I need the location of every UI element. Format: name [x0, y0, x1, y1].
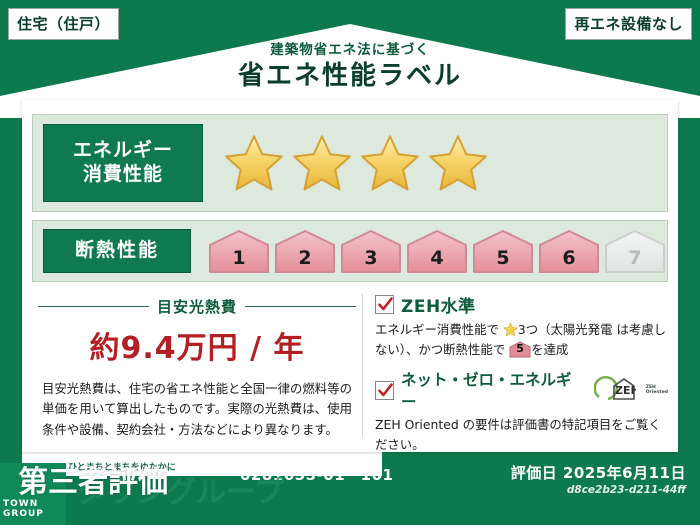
house-icon-inline: 5 [509, 341, 531, 358]
insulation-level-number: 6 [537, 247, 601, 269]
svg-text:ZEH: ZEH [615, 384, 636, 397]
zeh-panel: ZEH水準 エネルギー消費性能で 3つ（太陽光発電 は考慮しない）、かつ断熱性能… [369, 290, 668, 442]
label-title-block: 建築物省エネ法に基づく 省エネ性能ラベル [0, 42, 700, 93]
net-zero-heading: ネット・ゼロ・エネルギー ZEH ZEH Oriented [375, 368, 668, 412]
label-subtitle: 建築物省エネ法に基づく [0, 42, 700, 58]
insulation-level-house: 4 [405, 228, 469, 274]
zeh-body-stars: 3つ（太陽光発電 [518, 322, 613, 337]
rule-left [38, 306, 149, 307]
evaluation-date: 評価日 2025年6月11日 [511, 462, 686, 483]
energy-performance-label-box: エネルギー 消費性能 [43, 124, 203, 202]
insulation-level-house: 2 [273, 228, 337, 274]
rule-right [245, 306, 356, 307]
utility-cost-title: 目安光熱費 [157, 296, 237, 317]
zeh-body-pre: エネルギー消費性能で [375, 322, 499, 337]
insulation-level-house: 3 [339, 228, 403, 274]
zeh-standard-body: エネルギー消費性能で 3つ（太陽光発電 は考慮しない）、かつ断熱性能で 5 を達… [375, 320, 668, 360]
vertical-divider [362, 294, 363, 438]
utility-cost-value: 約9.4万円 / 年 [38, 323, 356, 367]
star-icon-inline [503, 322, 518, 337]
page-title: 省エネ性能ラベル [0, 60, 700, 93]
zeh-logo-note-l2: Oriented [646, 390, 668, 395]
label-card: エネルギー 消費性能 断熱性能 1234567 目安光熱費 約9.4万円 / 年… [22, 100, 678, 452]
zeh-logo-note: ZEH Oriented [646, 385, 668, 395]
utility-cost-note: 目安光熱費は、住宅の省エネ性能と全国一律の燃料等の単価を用いて算出したものです。… [38, 379, 356, 440]
utility-cost-panel: 目安光熱費 約9.4万円 / 年 目安光熱費は、住宅の省エネ性能と全国一律の燃料… [32, 290, 362, 442]
insulation-level-number: 4 [405, 247, 469, 269]
star-icon-filled [427, 133, 489, 193]
zeh-standard-title: ZEH水準 [401, 292, 476, 317]
insulation-level-house: 6 [537, 228, 601, 274]
insulation-level-house: 7 [603, 228, 667, 274]
star-icon-filled [359, 133, 421, 193]
zeh-logo-icon: ZEH [594, 375, 636, 405]
net-zero-body: ZEH Oriented の要件は評価書の特記項目をご覧ください。 [375, 415, 668, 455]
checkmark-icon-2 [375, 381, 394, 400]
insulation-performance-label-box: 断熱性能 [43, 229, 191, 273]
energy-performance-label: 住宅（住戸） 再エネ設備なし 建築物省エネ法に基づく 省エネ性能ラベル エネルギ… [0, 0, 700, 525]
footer-band: 0281655-01 101 評価日 2025年6月11日 d8ce2b23-d… [0, 452, 700, 525]
insulation-level-number: 2 [273, 247, 337, 269]
insulation-level-number: 7 [603, 247, 667, 269]
bels-id: 0281655-01 101 [240, 464, 393, 485]
net-zero-title: ネット・ゼロ・エネルギー [401, 368, 585, 412]
energy-label-line1: エネルギー [44, 139, 202, 163]
evaluation-uuid: d8ce2b23-d211-44ff [567, 484, 686, 496]
house-icon-level: 5 [509, 340, 531, 358]
insulation-level-number: 1 [207, 247, 271, 269]
insulation-level-number: 3 [339, 247, 403, 269]
utility-cost-heading: 目安光熱費 [38, 296, 356, 317]
star-rating [203, 133, 667, 193]
tag-renewable-equipment: 再エネ設備なし [565, 8, 692, 40]
checkmark-icon [375, 295, 394, 314]
star-icon-filled [223, 133, 285, 193]
zeh-body-post: を達成 [531, 342, 568, 357]
lower-section: 目安光熱費 約9.4万円 / 年 目安光熱費は、住宅の省エネ性能と全国一律の燃料… [32, 290, 668, 442]
energy-label-line2: 消費性能 [44, 163, 202, 187]
insulation-level-house: 5 [471, 228, 535, 274]
zeh-standard-heading: ZEH水準 [375, 292, 668, 317]
star-icon-filled [291, 133, 353, 193]
insulation-level-house: 1 [207, 228, 271, 274]
tag-building-type: 住宅（住戸） [8, 8, 119, 40]
insulation-level-number: 5 [471, 247, 535, 269]
energy-performance-row: エネルギー 消費性能 [32, 114, 668, 212]
insulation-level-scale: 1234567 [191, 228, 667, 274]
insulation-performance-row: 断熱性能 1234567 [32, 220, 668, 282]
